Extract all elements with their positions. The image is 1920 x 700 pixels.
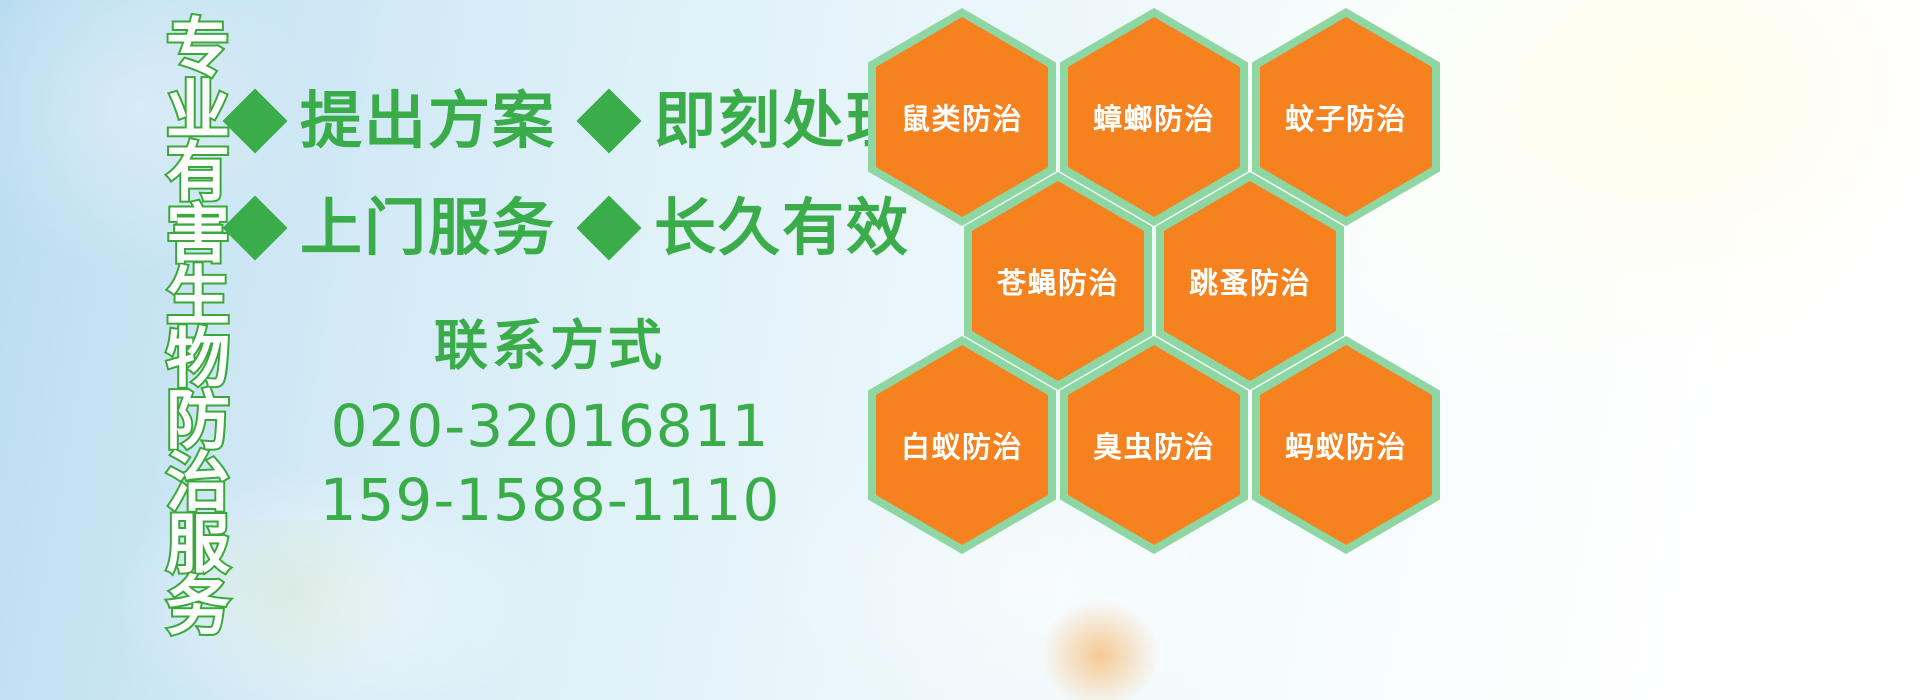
contact-phone-mobile[interactable]: 159-1588-1110 [300, 463, 800, 537]
feature-row-1: 提出方案 即刻处理 [232, 90, 910, 152]
hexagon-fill: 白蚁防治 [876, 345, 1048, 545]
promo-banner: 专业有害生物防治服务 提出方案 即刻处理 上门服务 长久有效 联系方式 020-… [0, 0, 1920, 700]
diamond-icon [576, 88, 641, 153]
service-hexagon-label: 蟑螂防治 [1093, 96, 1215, 138]
diamond-icon [222, 88, 287, 153]
hexagon-fill: 苍蝇防治 [972, 181, 1144, 381]
service-hexagon-label: 鼠类防治 [901, 96, 1023, 138]
feature-item-label: 上门服务 [300, 197, 556, 259]
background-leaf-blur [215, 520, 415, 700]
service-hexagon-label: 苍蝇防治 [997, 260, 1119, 302]
vertical-headline: 专业有害生物防治服务 [104, 14, 224, 634]
diamond-icon [222, 195, 287, 260]
hexagon-fill: 跳蚤防治 [1164, 181, 1336, 381]
feature-row-2: 上门服务 长久有效 [232, 197, 910, 259]
service-hexagon-label: 白蚁防治 [901, 424, 1023, 466]
hexagon-fill: 蚂蚁防治 [1260, 345, 1432, 545]
diamond-icon [576, 195, 641, 260]
contact-heading: 联系方式 [300, 315, 800, 377]
contact-phone-landline[interactable]: 020-32016811 [300, 389, 800, 463]
contact-block: 联系方式 020-32016811 159-1588-1110 [300, 315, 800, 538]
service-hexagon-label: 跳蚤防治 [1189, 260, 1311, 302]
service-hexagon-label: 臭虫防治 [1093, 424, 1215, 466]
feature-item-label: 提出方案 [300, 90, 556, 152]
service-hexagon-label: 蚊子防治 [1285, 96, 1407, 138]
hexagon-fill: 臭虫防治 [1068, 345, 1240, 545]
background-glow-right [1430, 0, 1920, 300]
service-hexagon-label: 蚂蚁防治 [1285, 424, 1407, 466]
hexagon-fill: 蟑螂防治 [1068, 17, 1240, 217]
hexagon-fill: 蚊子防治 [1260, 17, 1432, 217]
service-hexagon-grid: 鼠类防治 蟑螂防治 蚊子防治 苍蝇防治 跳蚤防治 白蚁防治 [862, 0, 1462, 700]
hexagon-fill: 鼠类防治 [876, 17, 1048, 217]
